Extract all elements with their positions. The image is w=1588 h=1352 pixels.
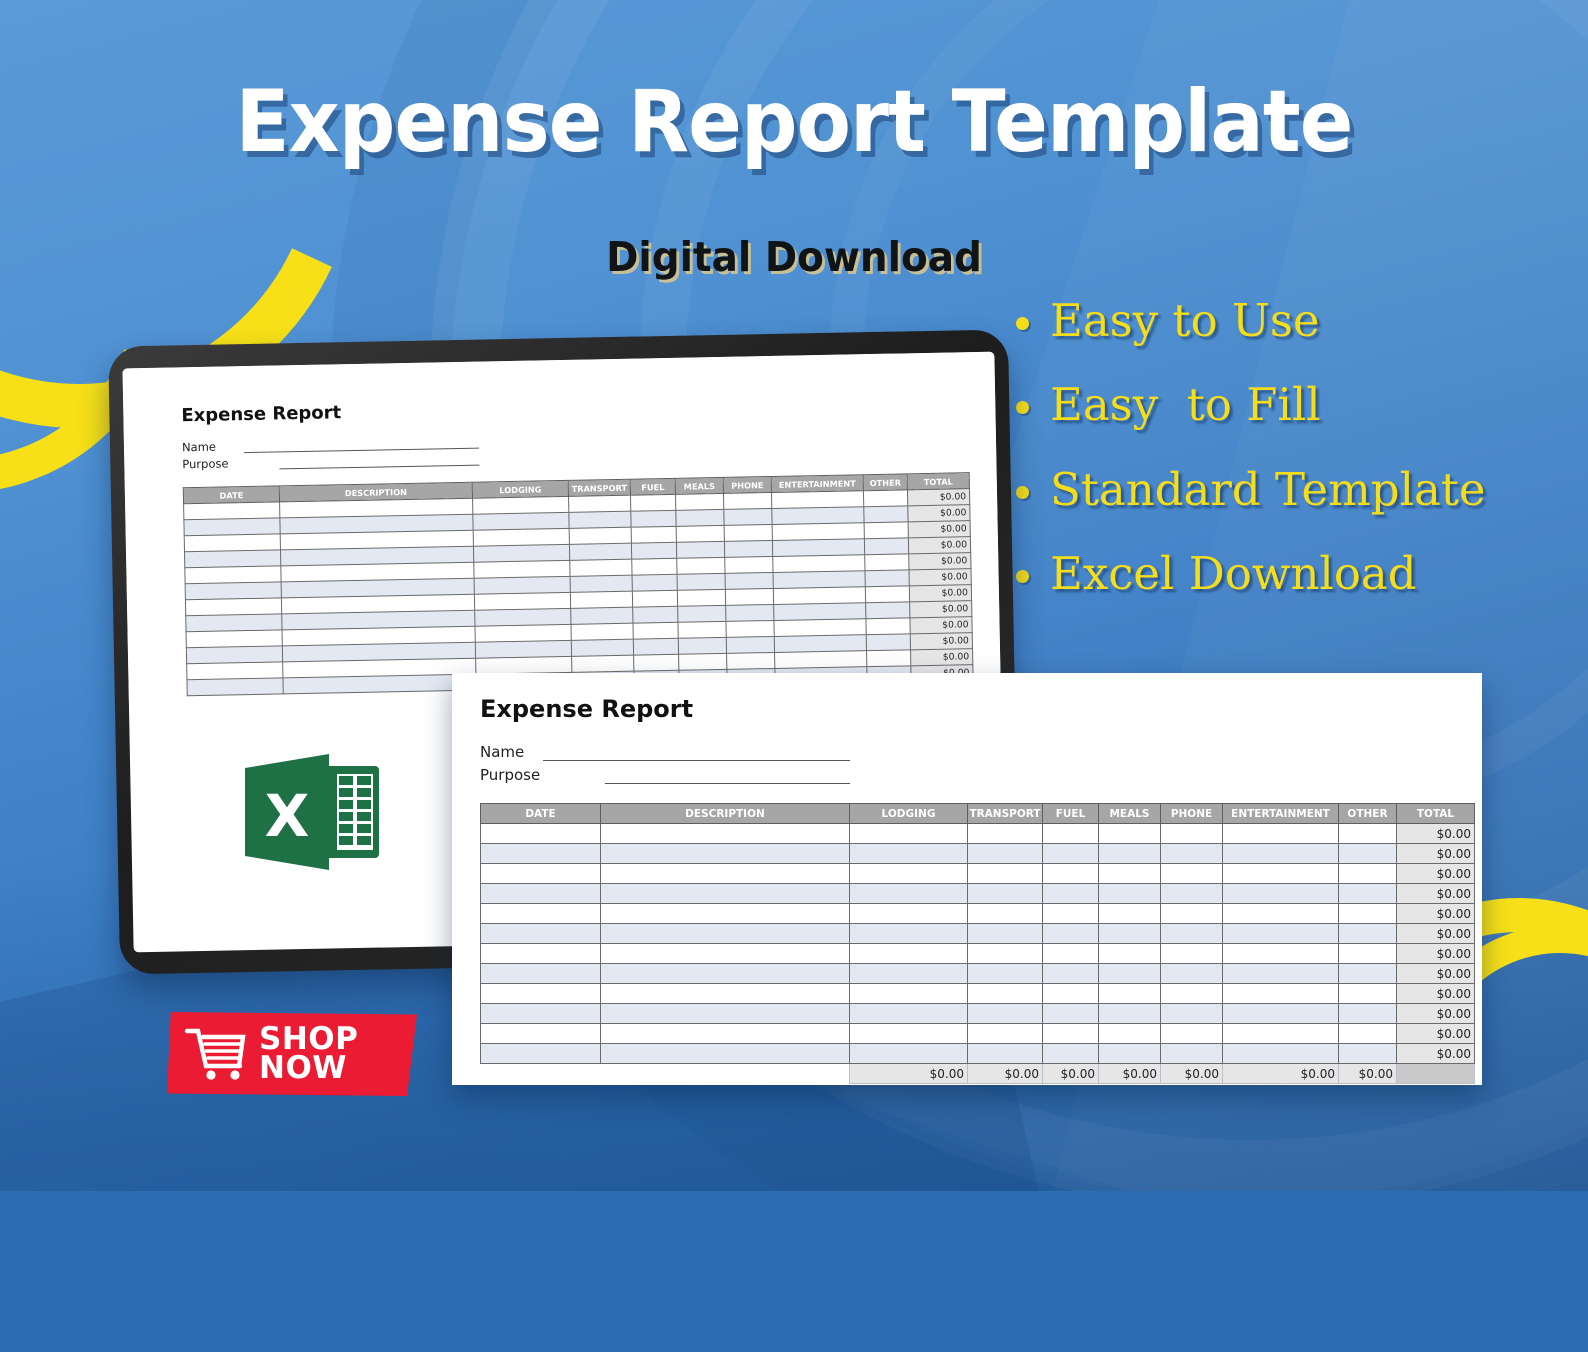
list-item: Standard Template: [1016, 465, 1576, 515]
cell-other[interactable]: [1339, 824, 1397, 844]
cell-phone[interactable]: [725, 556, 773, 573]
cell-total: $0.00: [1397, 824, 1475, 844]
cell-fuel[interactable]: [1043, 1024, 1099, 1044]
shop-now-button[interactable]: SHOP NOW: [167, 1012, 417, 1096]
cell-lodging[interactable]: [850, 884, 968, 904]
cell-description[interactable]: [601, 924, 850, 944]
footer-total-phone: $0.00: [1161, 1064, 1223, 1084]
cell-total: $0.00: [910, 601, 972, 618]
cell-fuel[interactable]: [1043, 944, 1099, 964]
cell-phone[interactable]: [727, 652, 775, 669]
cell-date[interactable]: [481, 984, 601, 1004]
column-header-transport: TRANSPORT: [968, 804, 1043, 824]
purpose-field-label: Purpose: [182, 455, 279, 471]
cell-lodging[interactable]: [850, 924, 968, 944]
cell-date[interactable]: [481, 1044, 601, 1064]
cell-transport[interactable]: [968, 924, 1043, 944]
cell-date[interactable]: [481, 944, 601, 964]
cell-entertainment[interactable]: [773, 555, 865, 573]
cell-fuel[interactable]: [633, 606, 678, 623]
feature-list: Easy to Use Easy to Fill Standard Templa…: [1016, 296, 1576, 634]
cell-other[interactable]: [1339, 944, 1397, 964]
cell-meals[interactable]: [1099, 844, 1161, 864]
cell-date[interactable]: [481, 864, 601, 884]
cell-meals[interactable]: [676, 541, 724, 558]
cell-description[interactable]: [601, 884, 850, 904]
cell-fuel[interactable]: [632, 574, 677, 591]
cell-transport[interactable]: [968, 864, 1043, 884]
cell-meals[interactable]: [1099, 944, 1161, 964]
cell-lodging[interactable]: [476, 656, 572, 674]
cell-date[interactable]: [184, 518, 280, 536]
table-row: $0.00: [481, 844, 1475, 864]
footer-total-transport: $0.00: [968, 1064, 1043, 1084]
column-header-date: DATE: [183, 486, 279, 504]
name-field-label: Name: [480, 743, 543, 761]
cell-date[interactable]: [186, 614, 282, 632]
shop-now-label: SHOP NOW: [259, 1025, 358, 1082]
cell-entertainment[interactable]: [1223, 864, 1339, 884]
cell-transport[interactable]: [569, 511, 631, 528]
cell-total: $0.00: [1397, 984, 1475, 1004]
cell-total: $0.00: [1397, 1004, 1475, 1024]
cell-phone[interactable]: [1161, 904, 1223, 924]
cell-lodging[interactable]: [850, 824, 968, 844]
cell-meals[interactable]: [1099, 1004, 1161, 1024]
footer-blank: [283, 690, 476, 710]
cell-transport[interactable]: [968, 884, 1043, 904]
cell-entertainment[interactable]: [772, 507, 864, 525]
cell-entertainment[interactable]: [1223, 1044, 1339, 1064]
cell-lodging[interactable]: [475, 640, 571, 658]
cell-entertainment[interactable]: [774, 603, 866, 621]
cell-transport[interactable]: [570, 559, 632, 576]
cell-description[interactable]: [601, 1004, 850, 1024]
cell-total: $0.00: [911, 649, 973, 666]
name-field-row: Name: [480, 743, 1482, 761]
cell-phone[interactable]: [1161, 824, 1223, 844]
table-row: $0.00: [481, 984, 1475, 1004]
cell-date[interactable]: [185, 566, 281, 584]
cell-lodging[interactable]: [850, 964, 968, 984]
cell-phone[interactable]: [1161, 964, 1223, 984]
cell-description[interactable]: [601, 1024, 850, 1044]
purpose-input[interactable]: [279, 453, 479, 470]
footer-grand-total: [1397, 1064, 1475, 1084]
cell-date[interactable]: [184, 502, 280, 520]
bullet-icon: [1016, 317, 1029, 330]
cell-other[interactable]: [1339, 844, 1397, 864]
cell-date[interactable]: [186, 630, 282, 648]
cell-transport[interactable]: [569, 495, 631, 512]
column-header-phone: PHONE: [1161, 804, 1223, 824]
expense-table-card: DATEDESCRIPTIONLODGINGTRANSPORTFUELMEALS…: [480, 803, 1475, 1084]
cell-phone[interactable]: [723, 492, 771, 509]
cell-lodging[interactable]: [850, 844, 968, 864]
purpose-input[interactable]: [605, 769, 850, 784]
table-row: $0.00: [481, 824, 1475, 844]
cell-fuel[interactable]: [1043, 844, 1099, 864]
cell-date[interactable]: [187, 662, 283, 680]
cell-fuel[interactable]: [634, 654, 679, 671]
cell-lodging[interactable]: [474, 576, 570, 594]
cell-fuel[interactable]: [631, 526, 676, 543]
cell-transport[interactable]: [571, 639, 633, 656]
cell-transport[interactable]: [571, 623, 633, 640]
footer-total-lodging: $0.00: [850, 1064, 968, 1084]
cell-transport[interactable]: [968, 904, 1043, 924]
bullet-icon: [1016, 486, 1029, 499]
column-header-meals: MEALS: [1099, 804, 1161, 824]
cell-description[interactable]: [601, 944, 850, 964]
cell-description[interactable]: [601, 864, 850, 884]
column-header-date: DATE: [481, 804, 601, 824]
feature-label: Easy to Use: [1050, 296, 1320, 346]
cell-total: $0.00: [1397, 1044, 1475, 1064]
cell-other[interactable]: [863, 490, 907, 507]
column-header-entertainment: ENTERTAINMENT: [771, 475, 863, 493]
cell-meals[interactable]: [679, 653, 727, 670]
cell-transport[interactable]: [571, 607, 633, 624]
column-header-lodging: LODGING: [850, 804, 968, 824]
cell-other[interactable]: [1339, 924, 1397, 944]
table-footer-row: $0.00$0.00$0.00$0.00$0.00$0.00$0.00: [481, 1064, 1475, 1084]
cell-meals[interactable]: [1099, 1044, 1161, 1064]
cell-entertainment[interactable]: [772, 523, 864, 541]
cell-meals[interactable]: [677, 573, 725, 590]
table-row: $0.00: [481, 944, 1475, 964]
cell-entertainment[interactable]: [1223, 844, 1339, 864]
column-header-transport: TRANSPORT: [568, 479, 630, 496]
cell-lodging[interactable]: [473, 496, 569, 514]
name-input[interactable]: [543, 746, 850, 761]
cell-lodging[interactable]: [850, 904, 968, 924]
footer-total-fuel: $0.00: [1043, 1064, 1099, 1084]
shop-now-line-2: NOW: [259, 1054, 358, 1083]
cell-total: $0.00: [909, 569, 971, 586]
cell-other[interactable]: [864, 522, 908, 539]
cell-lodging[interactable]: [850, 1024, 968, 1044]
cell-other[interactable]: [865, 586, 909, 603]
cell-entertainment[interactable]: [771, 491, 863, 509]
cell-transport[interactable]: [968, 1004, 1043, 1024]
column-header-total: TOTAL: [1397, 804, 1475, 824]
cell-total: $0.00: [1397, 884, 1475, 904]
footer-blank: [187, 694, 283, 712]
cell-date[interactable]: [187, 678, 283, 696]
cell-fuel[interactable]: [632, 590, 677, 607]
cell-lodging[interactable]: [474, 592, 570, 610]
cell-meals[interactable]: [1099, 924, 1161, 944]
cell-total: $0.00: [1397, 904, 1475, 924]
cell-total: $0.00: [909, 585, 971, 602]
cell-fuel[interactable]: [1043, 864, 1099, 884]
cell-entertainment[interactable]: [772, 539, 864, 557]
cell-fuel[interactable]: [1043, 1004, 1099, 1024]
excel-icon: X: [243, 750, 383, 874]
cell-fuel[interactable]: [633, 638, 678, 655]
cell-entertainment[interactable]: [774, 619, 866, 637]
table-row: $0.00: [481, 904, 1475, 924]
cell-meals[interactable]: [677, 589, 725, 606]
feature-label: Easy to Fill: [1050, 380, 1321, 430]
cell-date[interactable]: [481, 884, 601, 904]
page-title: Expense Report Template: [64, 72, 1525, 172]
cell-date[interactable]: [481, 1004, 601, 1024]
cell-description[interactable]: [601, 904, 850, 924]
feature-label: Standard Template: [1050, 465, 1486, 515]
cell-transport[interactable]: [968, 824, 1043, 844]
table-body: $0.00$0.00$0.00$0.00$0.00$0.00$0.00$0.00…: [481, 824, 1475, 1084]
cell-other[interactable]: [864, 538, 908, 555]
cell-date[interactable]: [481, 824, 601, 844]
cell-entertainment[interactable]: [1223, 1004, 1339, 1024]
cell-description[interactable]: [601, 964, 850, 984]
cell-transport[interactable]: [968, 984, 1043, 1004]
cell-total: $0.00: [1397, 944, 1475, 964]
cell-total: $0.00: [1397, 924, 1475, 944]
cell-date[interactable]: [185, 582, 281, 600]
cell-fuel[interactable]: [1043, 884, 1099, 904]
name-input[interactable]: [244, 436, 479, 454]
cell-transport[interactable]: [968, 944, 1043, 964]
cell-meals[interactable]: [1099, 864, 1161, 884]
cell-meals[interactable]: [1099, 984, 1161, 1004]
cell-lodging[interactable]: [475, 624, 571, 642]
cell-phone[interactable]: [1161, 984, 1223, 1004]
cell-phone[interactable]: [725, 588, 773, 605]
cell-other[interactable]: [1339, 964, 1397, 984]
cell-total: $0.00: [909, 553, 971, 570]
cell-other[interactable]: [1339, 1024, 1397, 1044]
cell-lodging[interactable]: [475, 608, 571, 626]
cell-other[interactable]: [866, 634, 910, 651]
footer-total-other: $0.00: [1339, 1064, 1397, 1084]
cell-meals[interactable]: [676, 525, 724, 542]
cell-fuel[interactable]: [1043, 964, 1099, 984]
footer-blank: [481, 1064, 601, 1084]
table-header-row: DATEDESCRIPTIONLODGINGTRANSPORTFUELMEALS…: [481, 804, 1475, 824]
cell-other[interactable]: [1339, 1044, 1397, 1064]
cell-total: $0.00: [908, 505, 970, 522]
cell-transport[interactable]: [968, 1024, 1043, 1044]
cell-phone[interactable]: [724, 524, 772, 541]
cell-phone[interactable]: [1161, 864, 1223, 884]
cell-transport[interactable]: [570, 591, 632, 608]
cell-date[interactable]: [184, 534, 280, 552]
cell-transport[interactable]: [968, 844, 1043, 864]
cell-entertainment[interactable]: [775, 651, 867, 669]
column-header-meals: MEALS: [675, 477, 723, 494]
cell-entertainment[interactable]: [1223, 1024, 1339, 1044]
cell-lodging[interactable]: [473, 512, 569, 530]
cell-transport[interactable]: [570, 575, 632, 592]
cell-entertainment[interactable]: [773, 587, 865, 605]
cell-fuel[interactable]: [631, 542, 676, 559]
cell-phone[interactable]: [1161, 944, 1223, 964]
cell-meals[interactable]: [675, 493, 723, 510]
table-row: $0.00: [481, 924, 1475, 944]
cell-fuel[interactable]: [633, 622, 678, 639]
cell-other[interactable]: [865, 554, 909, 571]
cell-meals[interactable]: [1099, 1024, 1161, 1044]
table-row: $0.00: [481, 1024, 1475, 1044]
cell-other[interactable]: [1339, 904, 1397, 924]
cell-date[interactable]: [481, 964, 601, 984]
cell-date[interactable]: [186, 646, 282, 664]
cell-date[interactable]: [185, 550, 281, 568]
cell-lodging[interactable]: [850, 864, 968, 884]
cell-transport[interactable]: [968, 964, 1043, 984]
table-row: $0.00: [481, 1004, 1475, 1024]
cell-phone[interactable]: [1161, 1024, 1223, 1044]
table-row: $0.00: [481, 884, 1475, 904]
cell-entertainment[interactable]: [1223, 884, 1339, 904]
column-header-other: OTHER: [863, 474, 907, 491]
cell-meals[interactable]: [1099, 904, 1161, 924]
cell-phone[interactable]: [725, 572, 773, 589]
bullet-icon: [1016, 401, 1029, 414]
cell-phone[interactable]: [724, 540, 772, 557]
cell-meals[interactable]: [678, 621, 726, 638]
column-header-description: DESCRIPTION: [601, 804, 850, 824]
cell-lodging[interactable]: [473, 544, 569, 562]
cell-total: $0.00: [908, 521, 970, 538]
list-item: Easy to Fill: [1016, 380, 1576, 430]
cell-phone[interactable]: [726, 604, 774, 621]
cell-total: $0.00: [1397, 844, 1475, 864]
sheet-title: Expense Report: [480, 695, 1482, 723]
page-subtitle: Digital Download: [40, 233, 1549, 281]
cell-transport[interactable]: [572, 655, 634, 672]
footer-blank: [601, 1064, 850, 1084]
cell-other[interactable]: [1339, 1004, 1397, 1024]
cell-transport[interactable]: [569, 527, 631, 544]
cell-other[interactable]: [1339, 864, 1397, 884]
feature-label: Excel Download: [1050, 549, 1417, 599]
list-item: Excel Download: [1016, 549, 1576, 599]
cell-entertainment[interactable]: [1223, 824, 1339, 844]
cell-phone[interactable]: [724, 508, 772, 525]
cell-other[interactable]: [865, 570, 909, 587]
cell-entertainment[interactable]: [1223, 984, 1339, 1004]
bullet-icon: [1016, 570, 1029, 583]
cell-other[interactable]: [867, 650, 911, 667]
cell-phone[interactable]: [726, 620, 774, 637]
cell-phone[interactable]: [726, 636, 774, 653]
cell-phone[interactable]: [1161, 884, 1223, 904]
list-item: Easy to Use: [1016, 296, 1576, 346]
cell-phone[interactable]: [1161, 1004, 1223, 1024]
cell-meals[interactable]: [678, 605, 726, 622]
cell-total: $0.00: [910, 633, 972, 650]
footer-total-entertainment: $0.00: [1223, 1064, 1339, 1084]
cell-entertainment[interactable]: [1223, 924, 1339, 944]
cell-lodging[interactable]: [474, 560, 570, 578]
cell-description[interactable]: [601, 984, 850, 1004]
cell-fuel[interactable]: [1043, 824, 1099, 844]
purpose-field-row: Purpose: [480, 766, 1482, 784]
cell-transport[interactable]: [569, 543, 631, 560]
cell-phone[interactable]: [1161, 844, 1223, 864]
column-header-other: OTHER: [1339, 804, 1397, 824]
cell-entertainment[interactable]: [1223, 904, 1339, 924]
cell-meals[interactable]: [678, 637, 726, 654]
footer-total-meals: $0.00: [1099, 1064, 1161, 1084]
excel-icon-letter: X: [265, 782, 310, 850]
name-field-label: Name: [182, 439, 244, 454]
cell-fuel[interactable]: [1043, 904, 1099, 924]
cell-lodging[interactable]: [850, 944, 968, 964]
cell-lodging[interactable]: [850, 1004, 968, 1024]
column-header-fuel: FUEL: [630, 478, 675, 495]
cell-other[interactable]: [1339, 984, 1397, 1004]
cell-transport[interactable]: [968, 1044, 1043, 1064]
table-row: $0.00: [481, 864, 1475, 884]
cell-date[interactable]: [185, 598, 281, 616]
cell-entertainment[interactable]: [773, 571, 865, 589]
expense-report-sheet-tablet: Expense Report Name Purpose DATEDESCRIPT…: [122, 352, 1000, 714]
cell-fuel[interactable]: [1043, 984, 1099, 1004]
cell-date[interactable]: [481, 904, 601, 924]
column-header-phone: PHONE: [723, 476, 771, 493]
cell-meals[interactable]: [676, 509, 724, 526]
cell-fuel[interactable]: [1043, 924, 1099, 944]
cell-description[interactable]: [601, 844, 850, 864]
column-header-fuel: FUEL: [1043, 804, 1099, 824]
cell-date[interactable]: [481, 924, 601, 944]
table-row: $0.00: [481, 964, 1475, 984]
cell-fuel[interactable]: [631, 510, 676, 527]
table-row: $0.00: [481, 1044, 1475, 1064]
cell-other[interactable]: [866, 618, 910, 635]
cell-fuel[interactable]: [631, 494, 676, 511]
cell-other[interactable]: [866, 602, 910, 619]
cell-total: $0.00: [1397, 1024, 1475, 1044]
cell-other[interactable]: [1339, 884, 1397, 904]
cell-total: $0.00: [910, 617, 972, 634]
cell-fuel[interactable]: [632, 558, 677, 575]
cell-total: $0.00: [1397, 864, 1475, 884]
cell-meals[interactable]: [1099, 964, 1161, 984]
cell-total: $0.00: [908, 537, 970, 554]
cell-description[interactable]: [601, 824, 850, 844]
column-header-total: TOTAL: [907, 473, 969, 490]
cell-date[interactable]: [481, 844, 601, 864]
cell-description[interactable]: [601, 1044, 850, 1064]
cell-date[interactable]: [481, 1024, 601, 1044]
cell-phone[interactable]: [1161, 924, 1223, 944]
cell-entertainment[interactable]: [1223, 944, 1339, 964]
cell-phone[interactable]: [1161, 1044, 1223, 1064]
column-header-lodging: LODGING: [472, 480, 568, 498]
cell-entertainment[interactable]: [774, 635, 866, 653]
cell-lodging[interactable]: [473, 528, 569, 546]
cell-other[interactable]: [864, 506, 908, 523]
purpose-field-label: Purpose: [480, 766, 605, 784]
expense-report-sheet-card: Expense Report Name Purpose DATEDESCRIPT…: [452, 673, 1482, 1085]
cell-meals[interactable]: [1099, 824, 1161, 844]
cell-fuel[interactable]: [1043, 1044, 1099, 1064]
column-header-entertainment: ENTERTAINMENT: [1223, 804, 1339, 824]
cell-total: $0.00: [1397, 964, 1475, 984]
cell-lodging[interactable]: [850, 984, 968, 1004]
cell-total: $0.00: [907, 489, 969, 506]
cell-meals[interactable]: [1099, 884, 1161, 904]
cell-lodging[interactable]: [850, 1044, 968, 1064]
cell-meals[interactable]: [677, 557, 725, 574]
cell-entertainment[interactable]: [1223, 964, 1339, 984]
